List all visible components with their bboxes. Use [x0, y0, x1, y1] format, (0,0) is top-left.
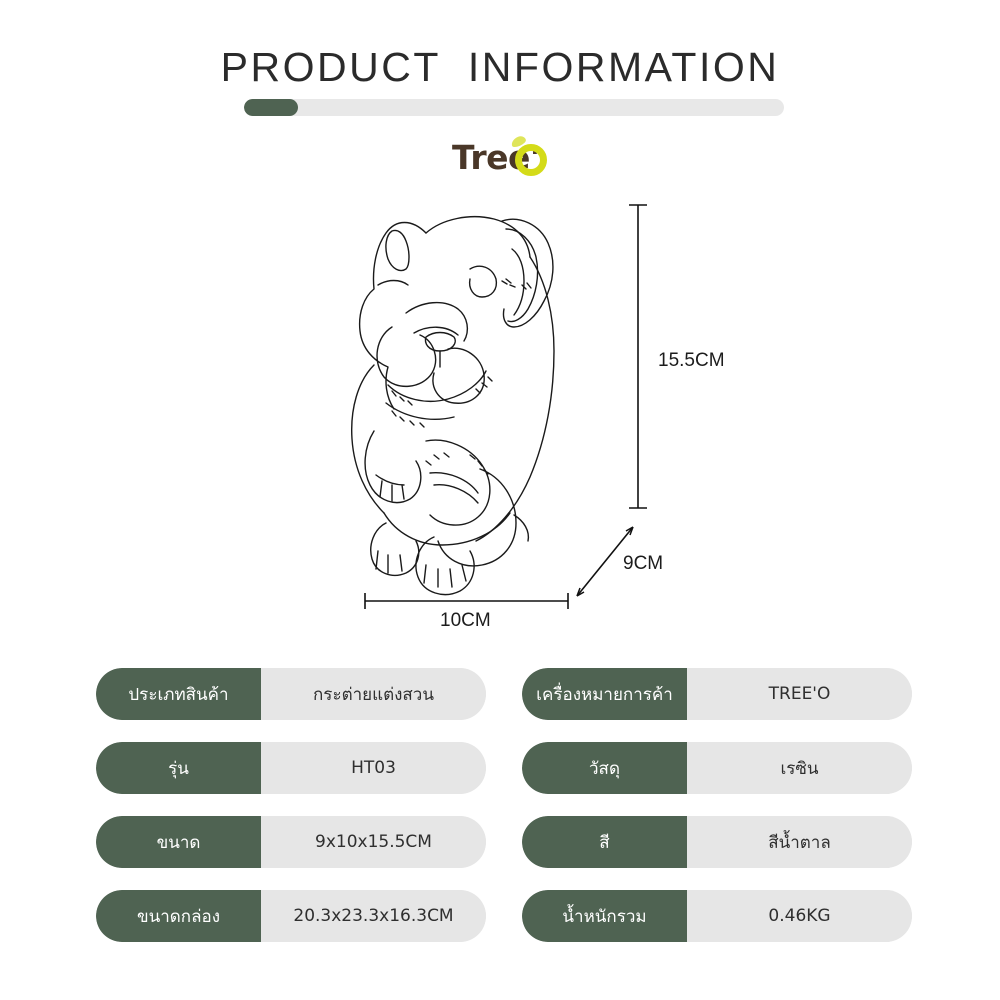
spec-label: ประเภทสินค้า [96, 668, 261, 720]
page-title: PRODUCT INFORMATION [0, 44, 1000, 91]
ring-o-icon [515, 144, 547, 176]
dimension-annotations: 15.5CM 10CM 9CM [340, 185, 760, 645]
spec-value: TREE'O [687, 668, 912, 720]
dimension-width-label: 10CM [440, 610, 491, 632]
spec-label: ขนาด [96, 816, 261, 868]
table-row: น้ำหนักรวม 0.46KG [522, 890, 912, 942]
spec-value: HT03 [261, 742, 486, 794]
spec-label: สี [522, 816, 687, 868]
spec-value: 0.46KG [687, 890, 912, 942]
progress-bar-track [244, 99, 784, 116]
spec-value: เรซิน [687, 742, 912, 794]
product-spec-table: ประเภทสินค้า กระต่ายแต่งสวน เครื่องหมายก… [96, 668, 912, 942]
brand-logo: Tree' [452, 136, 557, 180]
table-row: วัสดุ เรซิน [522, 742, 912, 794]
progress-bar-fill [244, 99, 298, 116]
table-row: ขนาดกล่อง 20.3x23.3x16.3CM [96, 890, 486, 942]
spec-label: รุ่น [96, 742, 261, 794]
dimension-height-label: 15.5CM [658, 350, 725, 372]
spec-label: เครื่องหมายการค้า [522, 668, 687, 720]
spec-value: กระต่ายแต่งสวน [261, 668, 486, 720]
spec-label: น้ำหนักรวม [522, 890, 687, 942]
spec-label: ขนาดกล่อง [96, 890, 261, 942]
table-row: สี สีน้ำตาล [522, 816, 912, 868]
spec-value: สีน้ำตาล [687, 816, 912, 868]
spec-value: 9x10x15.5CM [261, 816, 486, 868]
table-row: ประเภทสินค้า กระต่ายแต่งสวน [96, 668, 486, 720]
table-row: รุ่น HT03 [96, 742, 486, 794]
table-row: เครื่องหมายการค้า TREE'O [522, 668, 912, 720]
table-row: ขนาด 9x10x15.5CM [96, 816, 486, 868]
spec-label: วัสดุ [522, 742, 687, 794]
dimension-depth-label: 9CM [623, 553, 663, 575]
spec-value: 20.3x23.3x16.3CM [261, 890, 486, 942]
